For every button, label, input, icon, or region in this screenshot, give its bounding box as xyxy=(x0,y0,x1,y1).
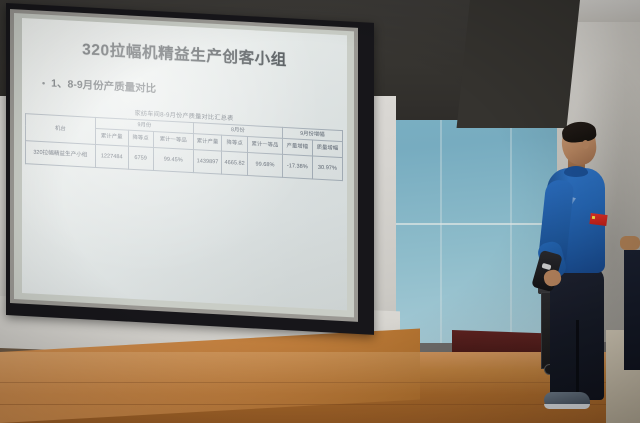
cell-sep-firstgrade: 99.45% xyxy=(153,147,193,172)
projected-slide: 320拉幅机精益生产创客小组 • 1、8-9月份产质量对比 家纺车间8-9月份产… xyxy=(22,18,347,310)
subheader-quality-growth: 质量增幅 xyxy=(312,140,342,158)
slide-title: 320拉幅机精益生产创客小组 xyxy=(22,34,347,73)
presenter xyxy=(540,124,624,423)
second-person-hand xyxy=(620,236,640,250)
subheader-sep-output: 累计产量 xyxy=(95,128,128,146)
slide-bullet-text: 1、8-9月份产质量对比 xyxy=(51,76,156,97)
flag-star-icon xyxy=(592,216,595,219)
cell-quality-growth: 30.97% xyxy=(312,156,342,181)
presenter-leg-seam xyxy=(576,320,579,400)
dark-wall-return xyxy=(457,0,580,128)
presenter-shoe-sole xyxy=(544,404,590,409)
cell-aug-output: 1439897 xyxy=(193,150,221,174)
header-machine: 机台 xyxy=(26,114,96,145)
cell-row-label: 320拉幅精益生产小组 xyxy=(26,141,96,168)
presentation-room-photo: 320拉幅机精益生产创客小组 • 1、8-9月份产质量对比 家纺车间8-9月份产… xyxy=(0,0,640,423)
cell-output-growth: -17.38% xyxy=(282,154,312,179)
second-person-partial xyxy=(624,250,640,370)
presenter-collar xyxy=(564,166,588,177)
subheader-sep-downgrade: 降等点 xyxy=(128,130,153,147)
subheader-aug-firstgrade: 累计一等品 xyxy=(248,137,282,155)
presenter-ear xyxy=(582,140,589,149)
cell-sep-downgrade: 6759 xyxy=(128,146,153,170)
bullet-marker-icon: • xyxy=(42,78,45,88)
slide-bullet: • 1、8-9月份产质量对比 xyxy=(42,75,156,96)
cell-sep-output: 1227484 xyxy=(95,144,128,169)
cell-aug-downgrade: 4665.82 xyxy=(222,151,248,175)
cell-aug-firstgrade: 99.68% xyxy=(248,153,282,178)
subheader-output-growth: 产量增幅 xyxy=(282,138,312,156)
subheader-aug-output: 累计产量 xyxy=(193,134,221,151)
subheader-aug-downgrade: 降等点 xyxy=(222,135,248,152)
slide-table-wrapper: 家纺车间8-9月份产质量对比汇总表 机台 9月份 8月份 9月份增幅 累计产量 … xyxy=(25,102,343,181)
